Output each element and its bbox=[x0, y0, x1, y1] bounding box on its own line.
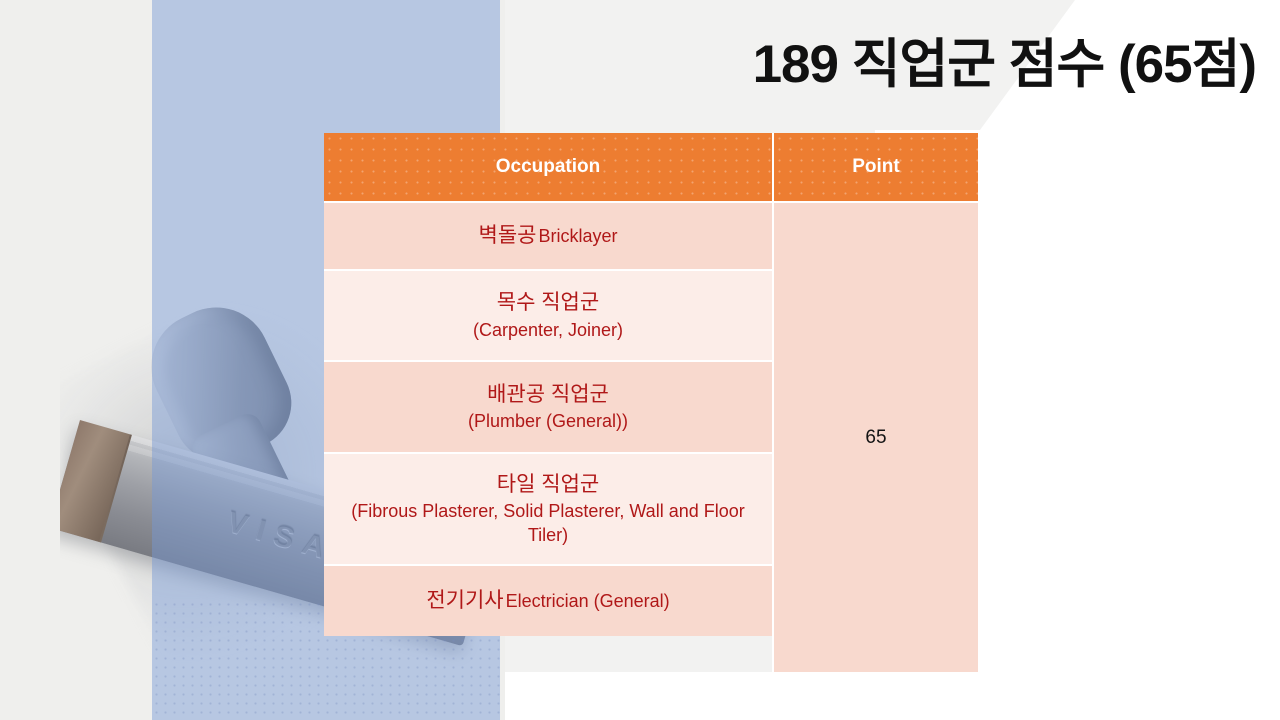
occupation-name-en: Electrician (General) bbox=[506, 591, 670, 611]
point-column-merged-cell: 65 bbox=[774, 201, 978, 672]
table-row: 벽돌공Bricklayer bbox=[324, 201, 772, 269]
column-header-point: Point bbox=[774, 133, 978, 201]
table-row: 배관공 직업군(Plumber (General)) bbox=[324, 360, 772, 452]
occupation-name-ko: 목수 직업군 bbox=[497, 291, 599, 314]
table-body: 벽돌공Bricklayer 목수 직업군(Carpenter, Joiner) … bbox=[324, 201, 978, 672]
occupation-name-en: (Fibrous Plasterer, Solid Plasterer, Wal… bbox=[351, 501, 745, 545]
occupation-name-en: (Carpenter, Joiner) bbox=[473, 320, 623, 340]
table-row: 전기기사Electrician (General) bbox=[324, 564, 772, 636]
occupation-name-en: Bricklayer bbox=[538, 226, 617, 246]
column-header-occupation: Occupation bbox=[324, 133, 774, 201]
occupation-points-table: Occupation Point 벽돌공Bricklayer 목수 직업군(Ca… bbox=[324, 133, 978, 672]
point-value: 65 bbox=[865, 427, 886, 449]
occupation-name-ko: 배관공 직업군 bbox=[487, 383, 609, 406]
occupation-column: 벽돌공Bricklayer 목수 직업군(Carpenter, Joiner) … bbox=[324, 201, 774, 672]
occupation-name-ko: 벽돌공 bbox=[479, 224, 537, 247]
occupation-name-ko: 타일 직업군 bbox=[497, 473, 599, 496]
slide: VISA 189 직업군 점수 (65점) Occupation Point 벽… bbox=[0, 0, 1280, 720]
table-header-row: Occupation Point bbox=[324, 133, 978, 201]
occupation-name-en: (Plumber (General)) bbox=[468, 411, 628, 431]
occupation-name-ko: 전기기사 bbox=[426, 589, 503, 612]
table-row: 목수 직업군(Carpenter, Joiner) bbox=[324, 269, 772, 360]
table-row: 타일 직업군(Fibrous Plasterer, Solid Plastere… bbox=[324, 452, 772, 564]
page-title: 189 직업군 점수 (65점) bbox=[753, 22, 1256, 98]
